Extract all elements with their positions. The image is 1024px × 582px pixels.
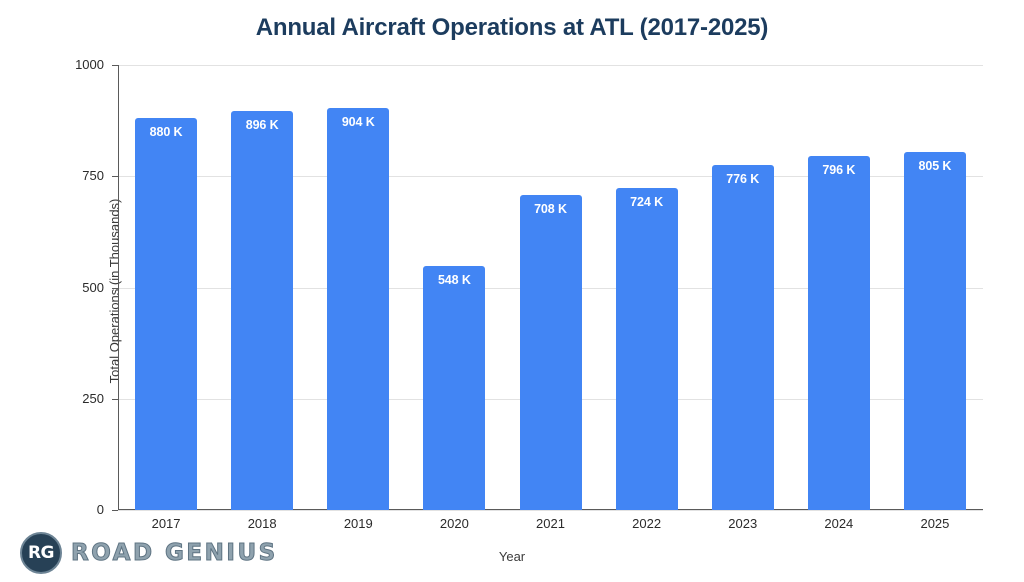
x-axis-tick-label: 2019	[310, 516, 406, 531]
x-axis-tick-label: 2020	[406, 516, 502, 531]
y-axis-tick-label: 500	[0, 280, 104, 295]
bar-2018[interactable]: 896 K	[231, 111, 293, 510]
bar-value-label: 796 K	[808, 163, 870, 177]
bar-value-label: 708 K	[520, 202, 582, 216]
bar-value-label: 724 K	[616, 195, 678, 209]
gridline	[118, 65, 983, 66]
x-axis-tick-label: 2025	[887, 516, 983, 531]
bar-2025[interactable]: 805 K	[904, 152, 966, 510]
y-axis-tick	[112, 399, 118, 400]
x-axis-tick-label: 2018	[214, 516, 310, 531]
bar-2020[interactable]: 548 K	[423, 266, 485, 510]
y-axis-line	[118, 65, 119, 510]
y-axis-tick-label: 250	[0, 391, 104, 406]
bar-value-label: 548 K	[423, 273, 485, 287]
bar-2024[interactable]: 796 K	[808, 156, 870, 510]
roadgenius-logo-icon: RG	[20, 532, 62, 574]
y-axis-tick	[112, 176, 118, 177]
y-axis-tick-label: 0	[0, 502, 104, 517]
bar-value-label: 805 K	[904, 159, 966, 173]
bar-value-label: 776 K	[712, 172, 774, 186]
x-axis-tick-label: 2022	[599, 516, 695, 531]
y-axis-tick-label: 1000	[0, 57, 104, 72]
plot-area: 880 K896 K904 K548 K708 K724 K776 K796 K…	[118, 65, 983, 510]
bar-2019[interactable]: 904 K	[327, 108, 389, 510]
logo-badge-label: RG	[28, 543, 54, 563]
x-axis-tick-label: 2024	[791, 516, 887, 531]
y-axis-tick	[112, 510, 118, 511]
bar-2017[interactable]: 880 K	[135, 118, 197, 510]
x-axis-tick-label: 2021	[502, 516, 598, 531]
gridline	[118, 510, 983, 511]
y-axis-tick	[112, 65, 118, 66]
x-axis-tick-label: 2023	[695, 516, 791, 531]
y-axis-tick-label: 750	[0, 168, 104, 183]
logo-wordmark: ROAD GENIUS	[71, 540, 278, 566]
bar-value-label: 904 K	[327, 115, 389, 129]
roadgenius-watermark: RG ROAD GENIUS	[20, 532, 278, 574]
y-axis-tick	[112, 288, 118, 289]
chart-title: Annual Aircraft Operations at ATL (2017-…	[0, 14, 1024, 42]
bar-2022[interactable]: 724 K	[616, 188, 678, 510]
bar-value-label: 896 K	[231, 118, 293, 132]
bar-2021[interactable]: 708 K	[520, 195, 582, 510]
bar-value-label: 880 K	[135, 125, 197, 139]
bar-2023[interactable]: 776 K	[712, 165, 774, 510]
x-axis-tick-label: 2017	[118, 516, 214, 531]
